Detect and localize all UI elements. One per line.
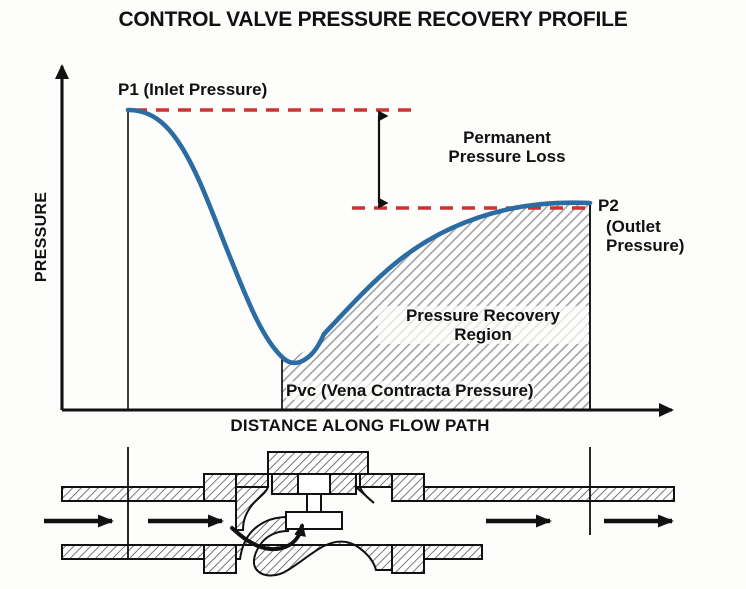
permanent-pressure-loss-label: Permanent Pressure Loss (412, 128, 602, 166)
p2-outlet-pressure-sublabel: (Outlet Pressure) (606, 217, 684, 255)
valve-plug-disc (286, 512, 342, 529)
inlet-flange-top (204, 474, 236, 501)
p2-outlet-pressure-label: P2 (598, 196, 619, 215)
inlet-flange-bottom (204, 545, 236, 573)
globe-valve-cross-section (0, 0, 746, 589)
upstream-pipe-top-wall (62, 487, 217, 501)
pressure-recovery-figure: CONTROL VALVE PRESSURE RECOVERY PROFILE … (0, 0, 746, 589)
valve-stem-collar (298, 474, 330, 494)
outlet-flange-top (392, 474, 424, 501)
valve-body-right-shoulder (356, 474, 392, 503)
valve-bonnet-neck-right (330, 474, 356, 494)
y-axis-label: PRESSURE (33, 177, 51, 297)
valve-bonnet (268, 452, 368, 474)
p1-inlet-pressure-label: P1 (Inlet Pressure) (118, 80, 267, 99)
pvc-vena-contracta-label: Pvc (Vena Contracta Pressure) (286, 381, 534, 400)
downstream-pipe-top-wall (424, 487, 674, 501)
upstream-pipe-bottom-wall (62, 545, 217, 559)
pressure-recovery-region-label: Pressure Recovery Region (378, 306, 588, 344)
page-title: CONTROL VALVE PRESSURE RECOVERY PROFILE (0, 8, 746, 32)
outlet-flange-bottom (392, 545, 424, 573)
x-axis-label: DISTANCE ALONG FLOW PATH (150, 416, 570, 435)
valve-bonnet-neck-left (272, 474, 298, 494)
downstream-pipe-bottom-wall (424, 545, 482, 559)
